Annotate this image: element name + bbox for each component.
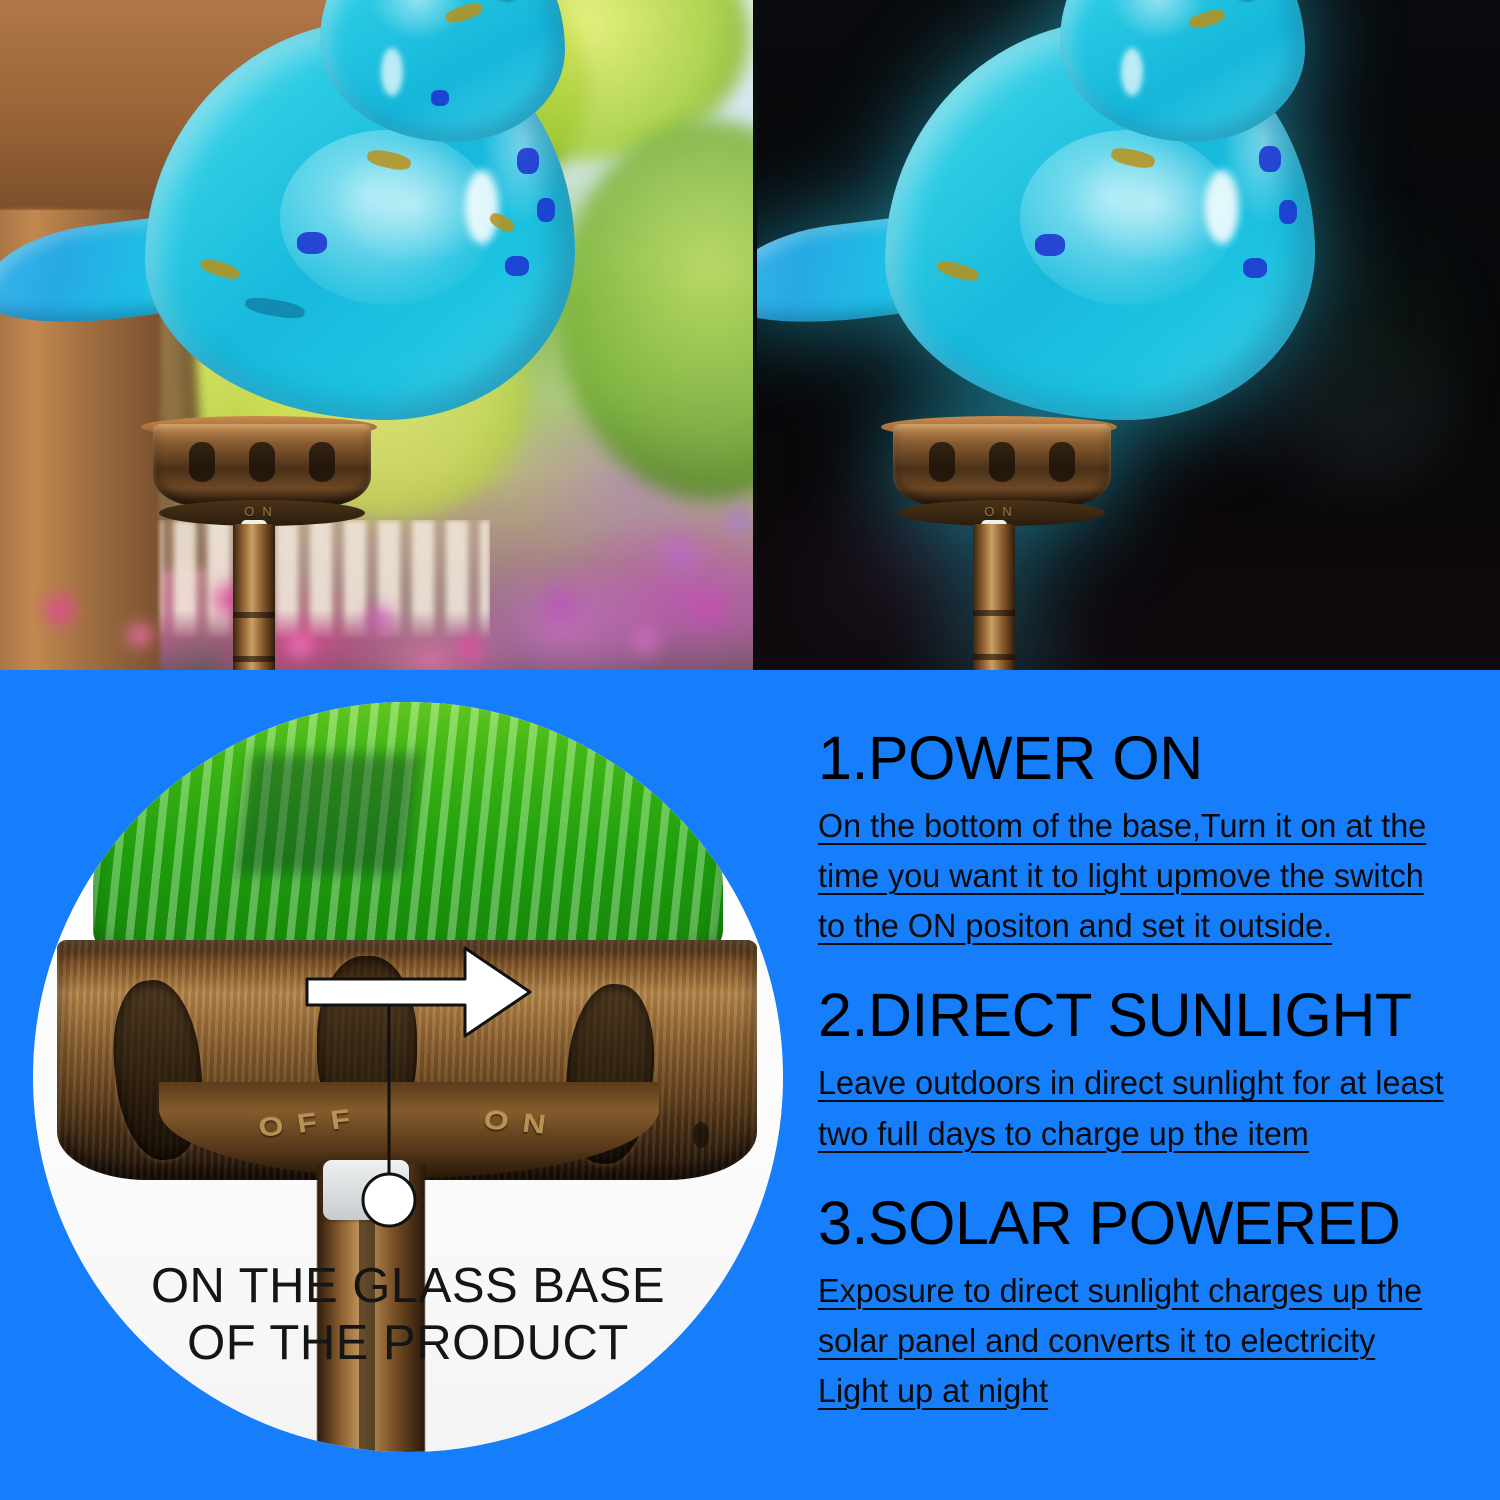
step-power-on: 1.POWER ON On the bottom of the base,Tur… (818, 728, 1478, 951)
step-title: 3.SOLAR POWERED (818, 1193, 1478, 1254)
step-body: Leave outdoors in direct sunlight for at… (818, 1058, 1478, 1158)
glass-fleck (537, 198, 555, 222)
step-line: to the ON positon and set it outside. (818, 901, 1465, 951)
switch-detail-photo: OFFON ON THE GLASS BASE OF THE PRODUCT (33, 702, 783, 1452)
step-line: Exposure to direct sunlight charges up t… (818, 1266, 1465, 1316)
step-solar-powered: 3.SOLAR POWERED Exposure to direct sunli… (818, 1193, 1478, 1416)
bronze-base (153, 424, 371, 506)
step-title: 2.DIRECT SUNLIGHT (818, 985, 1478, 1046)
base-switch-text: ON (159, 504, 365, 519)
glass-fleck (297, 232, 327, 254)
stake-joint (233, 612, 275, 618)
base-slot (929, 442, 955, 482)
instructions-panel: OFFON ON THE GLASS BASE OF THE PRODUCT 1… (0, 670, 1500, 1500)
arrow-right-icon (307, 948, 530, 1036)
base-slot (1049, 442, 1075, 482)
ground-stake (973, 524, 1015, 670)
glass-fleck (1259, 146, 1281, 172)
glass-highlight (1205, 170, 1239, 244)
step-line: time you want it to light upmove the swi… (818, 851, 1465, 901)
product-photo-strip: ON (0, 0, 1500, 670)
glass-fleck (1035, 234, 1065, 256)
step-body: On the bottom of the base,Turn it on at … (818, 801, 1478, 951)
stake-joint (233, 656, 275, 662)
instruction-steps: 1.POWER ON On the bottom of the base,Tur… (818, 728, 1478, 1446)
glass-highlight (381, 48, 403, 96)
photo-daytime: ON (0, 0, 755, 670)
step-line: On the bottom of the base,Turn it on at … (818, 801, 1465, 851)
photo-nighttime: ON (755, 0, 1500, 670)
step-line: Leave outdoors in direct sunlight for at… (818, 1058, 1465, 1108)
step-direct-sunlight: 2.DIRECT SUNLIGHT Leave outdoors in dire… (818, 985, 1478, 1158)
step-body: Exposure to direct sunlight charges up t… (818, 1266, 1478, 1416)
glass-fleck (517, 148, 539, 174)
glass-fleck (1279, 200, 1297, 224)
step-line: solar panel and converts it to electrici… (818, 1316, 1465, 1366)
base-slot (989, 442, 1015, 482)
glass-fleck (505, 256, 529, 276)
ground-stake (233, 524, 275, 670)
bronze-base (893, 424, 1111, 506)
stake-joint (973, 610, 1015, 616)
base-slot (249, 442, 275, 482)
step-title: 1.POWER ON (818, 728, 1478, 789)
glass-fleck (1243, 258, 1267, 278)
step-line: Light up at night (818, 1366, 1465, 1416)
photo-divider (753, 0, 757, 670)
base-slot (309, 442, 335, 482)
glass-highlight (1121, 48, 1143, 96)
flower-bed (0, 460, 755, 670)
stake-joint (973, 654, 1015, 660)
glass-fleck (431, 90, 449, 106)
glass-highlight (465, 170, 499, 244)
switch-marker-icon (363, 1174, 415, 1226)
base-switch-text: ON (899, 504, 1105, 519)
base-slot (189, 442, 215, 482)
step-line: two full days to charge up the item (818, 1109, 1465, 1159)
switch-annotation (33, 702, 783, 1452)
